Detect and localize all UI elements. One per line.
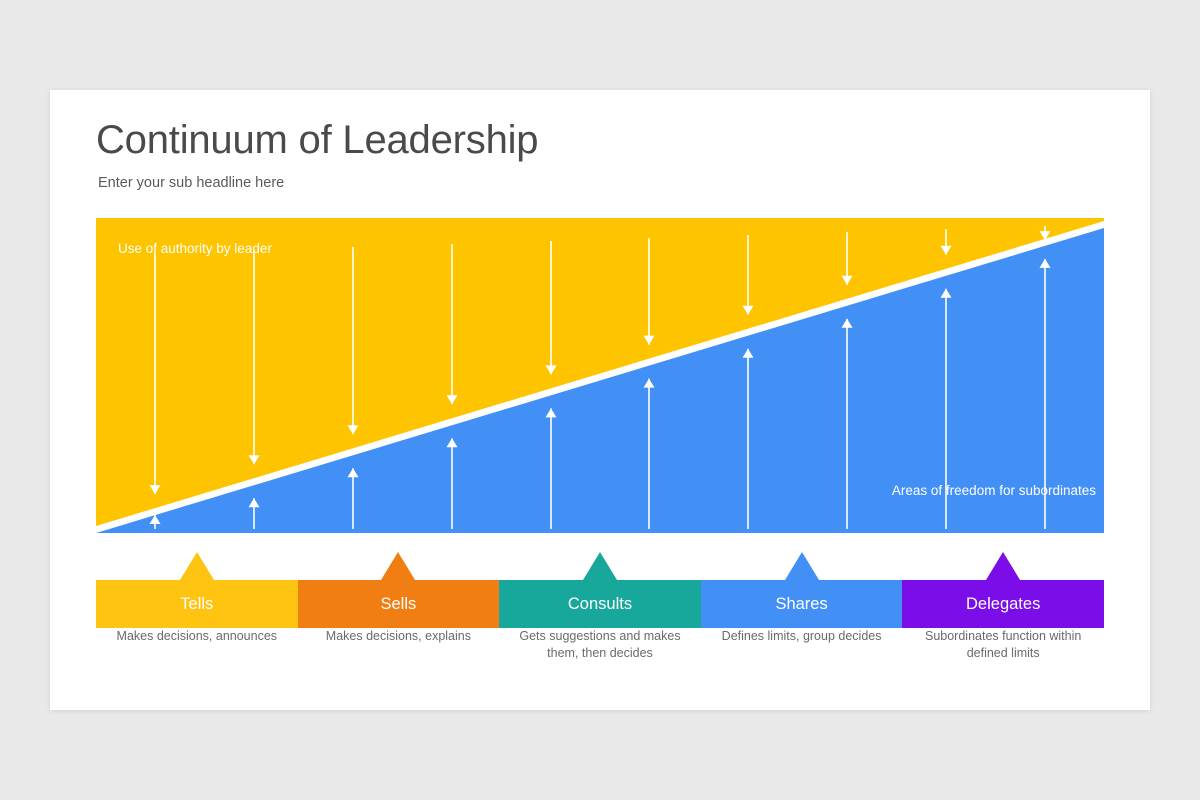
continuum-diagram: Use of authority by leader Areas of free… <box>96 218 1104 618</box>
stage-label: Sells <box>381 595 417 614</box>
stage-label: Shares <box>775 595 827 614</box>
stage-description-sells: Makes decisions, explains <box>298 628 500 662</box>
stage-segment-consults[interactable]: Consults <box>499 580 701 628</box>
stage-marker-tells[interactable] <box>180 552 214 580</box>
stage-description-shares: Defines limits, group decides <box>701 628 903 662</box>
page-subtitle: Enter your sub headline here <box>98 175 284 191</box>
stage-marker-sells[interactable] <box>381 552 415 580</box>
stage-label: Tells <box>180 595 213 614</box>
stage-segment-delegates[interactable]: Delegates <box>902 580 1104 628</box>
stage-segment-tells[interactable]: Tells <box>96 580 298 628</box>
stage-description-tells: Makes decisions, announces <box>96 628 298 662</box>
page-title: Continuum of Leadership <box>96 118 538 163</box>
stage-marker-delegates[interactable] <box>986 552 1020 580</box>
stage-description-consults: Gets suggestions and makes them, then de… <box>499 628 701 662</box>
freedom-zone-label: Areas of freedom for subordinates <box>892 483 1096 498</box>
stage-segment-shares[interactable]: Shares <box>701 580 903 628</box>
stage-label: Consults <box>568 595 632 614</box>
stage-marker-shares[interactable] <box>785 552 819 580</box>
stage-segment-sells[interactable]: Sells <box>298 580 500 628</box>
slide-card: Continuum of Leadership Enter your sub h… <box>50 90 1150 710</box>
stage-label: Delegates <box>966 595 1040 614</box>
stage-description-delegates: Subordinates function within defined lim… <box>902 628 1104 662</box>
stage-descriptions: Makes decisions, announcesMakes decision… <box>96 628 1104 662</box>
stage-bar: TellsSellsConsultsSharesDelegates <box>96 580 1104 628</box>
stage-marker-row <box>96 538 1104 580</box>
stage-marker-consults[interactable] <box>583 552 617 580</box>
authority-zone-label: Use of authority by leader <box>118 241 272 256</box>
